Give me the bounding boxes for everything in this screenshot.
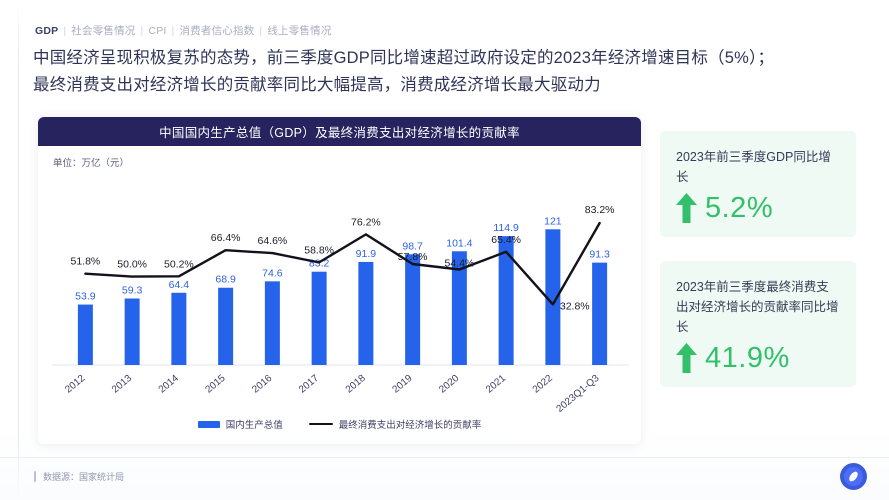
- footer-source: 数据源：国家统计局: [43, 470, 124, 483]
- chart-x-tick-label: 2021: [484, 373, 508, 396]
- combo-chart: 53.959.364.468.974.683.291.998.7101.4114…: [38, 172, 641, 417]
- chart-line-label: 50.2%: [164, 258, 194, 270]
- stat-card-consumption-contribution: 2023年前三季度最终消费支出对经济增长的贡献率同比增长 41.9%: [660, 261, 856, 387]
- stat-card-figure: 5.2%: [676, 193, 840, 223]
- chart-bar: [218, 288, 233, 365]
- slide-page: GDP | 社会零售情况 | CPI | 消费者信心指数 | 线上零售情况 中国…: [0, 0, 889, 500]
- footer-tick-icon: [34, 471, 36, 482]
- chart-bar-label: 83.2: [309, 258, 330, 270]
- chart-line-label: 76.2%: [351, 216, 381, 228]
- page-title: 中国经济呈现积极复苏的态势，前三季度GDP同比增速超过政府设定的2023年经济增…: [33, 45, 853, 99]
- legend-label-gdp: 国内生产总值: [226, 417, 283, 431]
- stat-card-value: 5.2%: [705, 194, 773, 223]
- chart-unit-label: 单位：万亿（元）: [53, 155, 129, 169]
- chart-x-tick-label: 2018: [344, 373, 368, 396]
- chart-line-label: 83.2%: [585, 204, 615, 216]
- nav-item-retail[interactable]: 社会零售情况: [71, 23, 135, 38]
- chart-bar: [125, 298, 140, 365]
- nav-item-online-retail[interactable]: 线上零售情况: [267, 23, 331, 38]
- nav-separator: |: [172, 25, 175, 37]
- chart-bar-label: 68.9: [215, 274, 236, 286]
- arrow-up-icon: [676, 193, 697, 223]
- chart-line: [85, 223, 599, 304]
- stat-card-gdp-growth: 2023年前三季度GDP同比增长 5.2%: [660, 131, 856, 237]
- chart-line-label: 65.4%: [491, 234, 521, 246]
- chart-x-tick-label: 2012: [63, 373, 87, 396]
- chart-x-tick-label: 2016: [250, 373, 274, 396]
- left-edge-rule: [18, 0, 19, 500]
- stat-cards: 2023年前三季度GDP同比增长 5.2% 2023年前三季度最终消费支出对经济…: [660, 131, 856, 387]
- stat-card-value: 41.9%: [705, 344, 790, 373]
- chart-x-tick-label: 2023Q1-Q3: [554, 373, 601, 415]
- chart-x-tick-label: 2015: [203, 373, 227, 396]
- category-nav[interactable]: GDP | 社会零售情况 | CPI | 消费者信心指数 | 线上零售情况: [35, 23, 332, 38]
- legend-line-swatch-icon: [309, 423, 333, 426]
- chart-bar-label: 53.9: [75, 291, 96, 303]
- legend-entry-gdp: 国内生产总值: [198, 417, 283, 431]
- nav-separator: |: [141, 25, 144, 37]
- nav-item-consumer-confidence[interactable]: 消费者信心指数: [179, 23, 254, 38]
- chart-line-label: 50.0%: [117, 259, 147, 271]
- chart-bar-label: 121: [544, 215, 562, 227]
- chart-line-label: 64.6%: [257, 235, 287, 247]
- chart-x-tick-label: 2022: [531, 373, 555, 396]
- chart-bar: [265, 281, 280, 365]
- chart-legend: 国内生产总值 最终消费支出对经济增长的贡献率: [38, 412, 641, 436]
- arrow-up-icon: [676, 343, 697, 373]
- legend-label-contribution: 最终消费支出对经济增长的贡献率: [339, 417, 482, 431]
- stat-card-caption: 2023年前三季度GDP同比增长: [676, 147, 840, 187]
- nav-separator: |: [259, 25, 262, 37]
- chart-plot-area: 53.959.364.468.974.683.291.998.7101.4114…: [38, 172, 641, 417]
- brand-logo-icon: [840, 463, 867, 490]
- headline-line-1: 中国经济呈现积极复苏的态势，前三季度GDP同比增速超过政府设定的2023年经济增…: [33, 45, 853, 72]
- chart-line-label: 58.8%: [304, 244, 334, 256]
- chart-bar: [358, 262, 373, 365]
- stat-card-figure: 41.9%: [676, 343, 840, 373]
- footer-divider: [0, 457, 889, 458]
- chart-bar: [78, 305, 93, 365]
- nav-item-gdp[interactable]: GDP: [35, 25, 58, 37]
- chart-bar: [499, 236, 514, 365]
- stat-card-caption: 2023年前三季度最终消费支出对经济增长的贡献率同比增长: [676, 277, 840, 337]
- chart-x-tick-label: 2013: [110, 373, 134, 396]
- footer: 数据源：国家统计局: [34, 470, 124, 483]
- chart-line-label: 32.8%: [560, 300, 590, 312]
- chart-bar-label: 59.3: [122, 284, 143, 296]
- chart-line-label: 57.8%: [398, 251, 428, 263]
- chart-bar-label: 74.6: [262, 267, 283, 279]
- chart-line-label: 51.8%: [70, 256, 100, 268]
- nav-separator: |: [63, 25, 66, 37]
- chart-x-tick-label: 2014: [157, 373, 181, 396]
- chart-line-label: 54.4%: [444, 258, 474, 270]
- chart-bar: [312, 272, 327, 365]
- legend-entry-contribution: 最终消费支出对经济增长的贡献率: [309, 417, 482, 431]
- chart-bar: [592, 263, 607, 365]
- chart-bar-label: 91.9: [356, 248, 377, 260]
- chart-bar-label: 114.9: [493, 222, 519, 234]
- nav-item-cpi[interactable]: CPI: [148, 25, 166, 37]
- chart-x-tick-label: 2017: [297, 373, 321, 396]
- chart-bar-label: 64.4: [169, 279, 190, 291]
- legend-bar-swatch-icon: [198, 421, 220, 428]
- chart-bar-label: 101.4: [446, 237, 472, 249]
- headline-line-2: 最终消费支出对经济增长的贡献率同比大幅提高，消费成经济增长最大驱动力: [33, 72, 853, 99]
- chart-x-tick-label: 2019: [390, 373, 414, 396]
- chart-x-tick-label: 2020: [437, 373, 461, 396]
- chart-panel: 中国国内生产总值（GDP）及最终消费支出对经济增长的贡献率 单位：万亿（元） 5…: [38, 117, 641, 444]
- chart-title: 中国国内生产总值（GDP）及最终消费支出对经济增长的贡献率: [38, 117, 641, 146]
- chart-bar: [171, 293, 186, 365]
- chart-bar: [405, 254, 420, 365]
- chart-line-label: 66.4%: [211, 232, 241, 244]
- chart-bar-label: 91.3: [589, 249, 610, 261]
